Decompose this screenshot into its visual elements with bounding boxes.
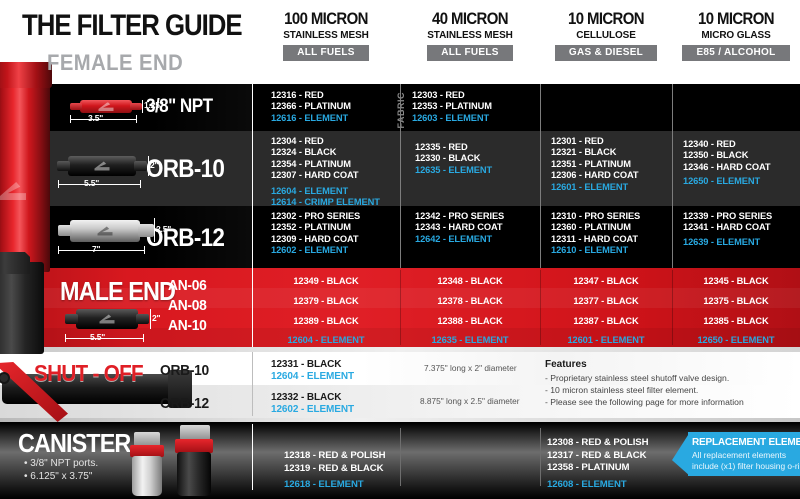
column-fuel-badge: ALL FUELS xyxy=(427,45,513,61)
part-number: 12306 - HARD COAT xyxy=(551,170,639,181)
part-number: 12385 - BLACK xyxy=(672,316,800,327)
part-number-element: 12603 - ELEMENT xyxy=(412,113,492,124)
column-micron-label: 100 MICRON xyxy=(261,10,391,28)
cell-shutoff-r1-part: 12331 - BLACK 12604 - ELEMENT xyxy=(271,359,354,383)
part-number: 12349 - BLACK xyxy=(252,276,400,287)
column-fuel-badge: E85 / ALCOHOL xyxy=(682,45,789,61)
cell-male-r3-c1: 12389 - BLACK xyxy=(252,316,400,327)
part-number: 12319 - RED & BLACK xyxy=(284,463,385,476)
column-fuel-badge: GAS & DIESEL xyxy=(555,45,657,61)
dim-length-orb10: 5.5" xyxy=(84,178,99,188)
filter-logo-icon xyxy=(99,102,114,111)
dim-line-dia-npt xyxy=(142,100,143,113)
filter-thumb-orb10: 5.5" 2" xyxy=(56,148,186,192)
dim-length-orb12: 7" xyxy=(92,244,100,254)
part-number: 12340 - RED xyxy=(683,139,771,150)
cell-male-r1-c4: 12345 - BLACK xyxy=(672,276,800,287)
cell-male-r2-c3: 12377 - BLACK xyxy=(540,296,672,307)
part-number-element: 12604 - ELEMENT xyxy=(271,186,380,197)
column-header-10-micron-glass: 10 MICRON MICRO GLASS E85 / ALCOHOL xyxy=(672,10,800,76)
column-fuel-badge: ALL FUELS xyxy=(283,45,369,61)
part-number-element: 12635 - ELEMENT xyxy=(400,335,540,346)
male-divider-2 xyxy=(540,270,541,345)
part-number: 12354 - PLATINUM xyxy=(271,159,380,170)
dim-dia-npt: 1.25" xyxy=(144,100,164,110)
part-number-element: 12635 - ELEMENT xyxy=(415,165,492,176)
part-number: 12360 - PLATINUM xyxy=(551,222,640,233)
canister-body-polish xyxy=(132,456,162,496)
row-label-shutoff-orb12: ORB-12 xyxy=(160,395,209,412)
dim-tick-r-npt xyxy=(136,115,137,123)
part-number: 12366 - PLATINUM xyxy=(271,101,351,112)
part-number: 12358 - PLATINUM xyxy=(547,462,648,475)
filter-guide-page: THE FILTER GUIDE FEMALE END 100 MICRON S… xyxy=(0,0,800,499)
male-divider-1 xyxy=(400,270,401,345)
part-number-element: 12601 - ELEMENT xyxy=(540,335,672,346)
cell-canister-c3: 12308 - RED & POLISH 12317 - RED & BLACK… xyxy=(547,437,648,491)
part-number: 12318 - RED & POLISH xyxy=(284,450,385,463)
part-number: 12389 - BLACK xyxy=(252,316,400,327)
canister-image-black xyxy=(170,425,220,497)
part-number: 12332 - BLACK xyxy=(271,392,354,404)
filter-outlet-npt xyxy=(130,103,142,110)
part-number: 12378 - BLACK xyxy=(400,296,540,307)
part-number-element: 12602 - ELEMENT xyxy=(271,245,360,256)
feature-item: - Proprietary stainless steel shutoff va… xyxy=(545,372,744,384)
filter-inlet-orb10 xyxy=(57,161,70,171)
dim-tick-r-orb12 xyxy=(144,246,145,254)
brand-logo-icon xyxy=(0,182,26,200)
part-number: 12353 - PLATINUM xyxy=(412,101,492,112)
cell-male-r3-c4: 12385 - BLACK xyxy=(672,316,800,327)
column-header-10-micron-cellulose: 10 MICRON CELLULOSE GAS & DIESEL xyxy=(540,10,672,76)
part-number: 12321 - BLACK xyxy=(551,147,639,158)
part-number: 12331 - BLACK xyxy=(271,359,354,371)
column-micron-label: 40 MICRON xyxy=(408,10,531,28)
column-header-100-micron: 100 MICRON STAINLESS MESH ALL FUELS xyxy=(252,10,400,76)
part-number: 12316 - RED xyxy=(271,90,351,101)
part-number: 12335 - RED xyxy=(415,142,492,153)
male-divider-left xyxy=(252,268,253,347)
canister-bullets: • 3/8" NPT ports. • 6.125" x 3.75" xyxy=(24,457,98,483)
filter-outlet-orb10 xyxy=(134,161,147,171)
canister-bracket xyxy=(134,432,160,446)
cell-orb12-c3: 12310 - PRO SERIES 12360 - PLATINUM 1231… xyxy=(551,211,640,257)
part-number: 12377 - BLACK xyxy=(540,296,672,307)
filter-thumb-male: 5.5" 2" xyxy=(62,304,192,346)
dim-line-length-orb12 xyxy=(58,250,144,251)
part-number-element: 12601 - ELEMENT xyxy=(551,182,639,193)
page-title: THE FILTER GUIDE xyxy=(22,9,242,43)
replacement-badge-line: All replacement elements xyxy=(692,450,800,461)
part-number: 12387 - BLACK xyxy=(540,316,672,327)
part-number-element: 12610 - ELEMENT xyxy=(551,245,640,256)
part-number-element: 12616 - ELEMENT xyxy=(271,113,351,124)
shutoff-heading: SHUT - OFF xyxy=(34,360,143,387)
canister-bullet: • 6.125" x 3.75" xyxy=(24,470,98,483)
filter-inlet-npt xyxy=(70,103,82,110)
column-divider-3 xyxy=(672,84,673,268)
part-number: 12304 - RED xyxy=(271,136,380,147)
part-number: 12341 - HARD COAT xyxy=(683,222,772,233)
page-subtitle: FEMALE END xyxy=(47,50,183,76)
part-number: 12343 - HARD COAT xyxy=(415,222,504,233)
dim-tick-l-orb12 xyxy=(58,246,59,254)
filter-inlet-male xyxy=(65,314,78,324)
part-number-element: 12608 - ELEMENT xyxy=(547,479,648,492)
part-number: 12375 - BLACK xyxy=(672,296,800,307)
part-number: 12330 - BLACK xyxy=(415,153,492,164)
cell-orb12-c2: 12342 - PRO SERIES 12343 - HARD COAT 126… xyxy=(415,211,504,245)
filter-body-male xyxy=(76,309,138,329)
filter-thumb-npt: 3.5" 1.25" xyxy=(62,92,182,126)
canister-divider-1 xyxy=(400,428,401,486)
dim-tick-l-orb10 xyxy=(58,180,59,188)
cell-male-r2-c4: 12375 - BLACK xyxy=(672,296,800,307)
part-number-element: 12604 - ELEMENT xyxy=(252,335,400,346)
cell-orb12-c1: 12302 - PRO SERIES 12352 - PLATINUM 1230… xyxy=(271,211,360,257)
part-number: 12307 - HARD COAT xyxy=(271,170,380,181)
canister-heading: CANISTER xyxy=(18,428,130,459)
filter-logo-icon xyxy=(100,315,115,324)
cell-male-r3-c2: 12388 - BLACK xyxy=(400,316,540,327)
part-number-element: 12618 - ELEMENT xyxy=(284,479,385,492)
canister-top-red xyxy=(175,439,213,453)
male-end-heading: MALE END xyxy=(60,276,175,307)
cell-orb10-c2: 12335 - RED 12330 - BLACK 12635 - ELEMEN… xyxy=(415,142,492,176)
part-number-element: 12614 - CRIMP ELEMENT xyxy=(271,197,380,208)
column-media-label: STAINLESS MESH xyxy=(256,29,397,41)
filter-inlet-orb12 xyxy=(58,225,72,236)
column-header-40-micron: 40 MICRON STAINLESS MESH ALL FUELS xyxy=(400,10,540,76)
part-number: 12310 - PRO SERIES xyxy=(551,211,640,222)
canister-image-polish xyxy=(126,432,172,498)
column-media-label: STAINLESS MESH xyxy=(404,29,537,41)
column-media-label: CELLULOSE xyxy=(543,29,668,41)
title-block: THE FILTER GUIDE FEMALE END xyxy=(0,0,270,84)
part-number-element: 12650 - ELEMENT xyxy=(672,335,800,346)
part-number-element: 12602 - ELEMENT xyxy=(271,404,354,416)
part-number-element: 12642 - ELEMENT xyxy=(415,234,504,245)
column-divider-1 xyxy=(400,84,401,268)
features-title: Features xyxy=(545,359,587,370)
part-number: 12379 - BLACK xyxy=(252,296,400,307)
dim-line-dia-orb12 xyxy=(154,218,155,242)
part-number: 12339 - PRO SERIES xyxy=(683,211,772,222)
cell-npt-c2: 12303 - RED 12353 - PLATINUM 12603 - ELE… xyxy=(412,90,492,124)
red-bottle-image xyxy=(0,76,50,272)
part-number: 12303 - RED xyxy=(412,90,492,101)
cell-male-r2-c1: 12379 - BLACK xyxy=(252,296,400,307)
replacement-badge-subtext: All replacement elements include (x1) fi… xyxy=(692,450,800,471)
part-number: 12309 - HARD COAT xyxy=(271,234,360,245)
features-list: - Proprietary stainless steel shutoff va… xyxy=(545,372,744,409)
feature-item: - 10 micron stainless steel filter eleme… xyxy=(545,384,744,396)
part-number-element: 12650 - ELEMENT xyxy=(683,176,771,187)
filter-outlet-male xyxy=(136,314,149,324)
filter-body-npt xyxy=(80,100,132,113)
part-number-element: 12639 - ELEMENT xyxy=(683,237,772,248)
part-number: 12324 - BLACK xyxy=(271,147,380,158)
filter-body-orb10 xyxy=(68,156,136,176)
cell-orb10-c4: 12340 - RED 12350 - BLACK 12346 - HARD C… xyxy=(683,139,771,188)
part-number: 12388 - BLACK xyxy=(400,316,540,327)
part-number: 12345 - BLACK xyxy=(672,276,800,287)
part-number: 12350 - BLACK xyxy=(683,150,771,161)
part-number: 12311 - HARD COAT xyxy=(551,234,640,245)
cell-male-r4-c1: 12604 - ELEMENT xyxy=(252,335,400,346)
dim-line-dia-orb10 xyxy=(148,156,149,176)
dim-line-dia-male xyxy=(150,309,151,329)
dim-tick-r-male xyxy=(143,334,144,342)
filter-logo-icon xyxy=(95,162,110,171)
part-number: 12301 - RED xyxy=(551,136,639,147)
column-micron-label: 10 MICRON xyxy=(680,10,793,28)
replacement-badge-title: REPLACEMENT ELEMENTS xyxy=(692,437,800,448)
cell-male-r1-c3: 12347 - BLACK xyxy=(540,276,672,287)
replacement-badge-line: include (x1) filter housing o-ring xyxy=(692,461,800,472)
column-divider-left xyxy=(252,84,253,268)
dim-length-npt: 3.5" xyxy=(88,113,103,123)
filter-outlet-orb12 xyxy=(138,224,154,237)
canister-body-black xyxy=(177,452,211,496)
canister-divider-left xyxy=(252,424,253,490)
part-number: 12302 - PRO SERIES xyxy=(271,211,360,222)
row-label-shutoff-orb10: ORB-10 xyxy=(160,362,209,379)
dim-length-male: 5.5" xyxy=(90,332,105,342)
filter-thumb-orb12: 7" 2.5" xyxy=(56,214,192,260)
cell-male-r4-c3: 12601 - ELEMENT xyxy=(540,335,672,346)
part-number: 12351 - PLATINUM xyxy=(551,159,639,170)
column-micron-label: 10 MICRON xyxy=(548,10,664,28)
row-label-an06: AN-06 xyxy=(168,277,207,294)
filter-body-orb12 xyxy=(70,220,140,242)
cell-canister-c1: 12318 - RED & POLISH 12319 - RED & BLACK… xyxy=(284,450,385,492)
part-number: 12317 - RED & BLACK xyxy=(547,450,648,463)
shutoff-dimension-r2: 8.875" long x 2.5" diameter xyxy=(420,396,520,406)
cell-shutoff-r2-part: 12332 - BLACK 12602 - ELEMENT xyxy=(271,392,354,416)
part-number-element: 12604 - ELEMENT xyxy=(271,371,354,383)
dim-dia-orb12: 2.5" xyxy=(156,224,171,234)
canister-divider-2 xyxy=(540,428,541,486)
canister-bullet: • 3/8" NPT ports. xyxy=(24,457,98,470)
dim-dia-orb10: 2" xyxy=(150,160,158,170)
shutoff-dimension-r1: 7.375" long x 2" diameter xyxy=(424,363,517,373)
column-media-label: MICRO GLASS xyxy=(675,29,797,41)
feature-item: - Please see the following page for more… xyxy=(545,396,744,408)
part-number: 12347 - BLACK xyxy=(540,276,672,287)
dim-dia-male: 2" xyxy=(152,313,160,323)
fabric-tag: FABRIC xyxy=(396,92,406,129)
dim-tick-l-npt xyxy=(70,115,71,123)
black-fitting-image xyxy=(0,262,44,354)
dim-tick-r-orb10 xyxy=(140,180,141,188)
shutoff-divider-left xyxy=(252,352,253,416)
part-number: 12352 - PLATINUM xyxy=(271,222,360,233)
part-number: 12346 - HARD COAT xyxy=(683,162,771,173)
cell-male-r4-c2: 12635 - ELEMENT xyxy=(400,335,540,346)
cell-orb12-c4: 12339 - PRO SERIES 12341 - HARD COAT 126… xyxy=(683,211,772,248)
part-number: 12348 - BLACK xyxy=(400,276,540,287)
cell-male-r3-c3: 12387 - BLACK xyxy=(540,316,672,327)
cell-npt-c1: 12316 - RED 12366 - PLATINUM 12616 - ELE… xyxy=(271,90,351,124)
male-divider-3 xyxy=(672,270,673,345)
part-number: 12308 - RED & POLISH xyxy=(547,437,648,450)
cell-male-r1-c2: 12348 - BLACK xyxy=(400,276,540,287)
filter-logo-icon xyxy=(98,227,113,236)
canister-bracket xyxy=(180,425,210,440)
cell-male-r1-c1: 12349 - BLACK xyxy=(252,276,400,287)
cell-orb10-c3: 12301 - RED 12321 - BLACK 12351 - PLATIN… xyxy=(551,136,639,193)
cell-orb10-c1: 12304 - RED 12324 - BLACK 12354 - PLATIN… xyxy=(271,136,380,208)
cell-male-r2-c2: 12378 - BLACK xyxy=(400,296,540,307)
part-number: 12342 - PRO SERIES xyxy=(415,211,504,222)
dim-tick-l-male xyxy=(65,334,66,342)
column-divider-2 xyxy=(540,84,541,268)
cell-male-r4-c4: 12650 - ELEMENT xyxy=(672,335,800,346)
